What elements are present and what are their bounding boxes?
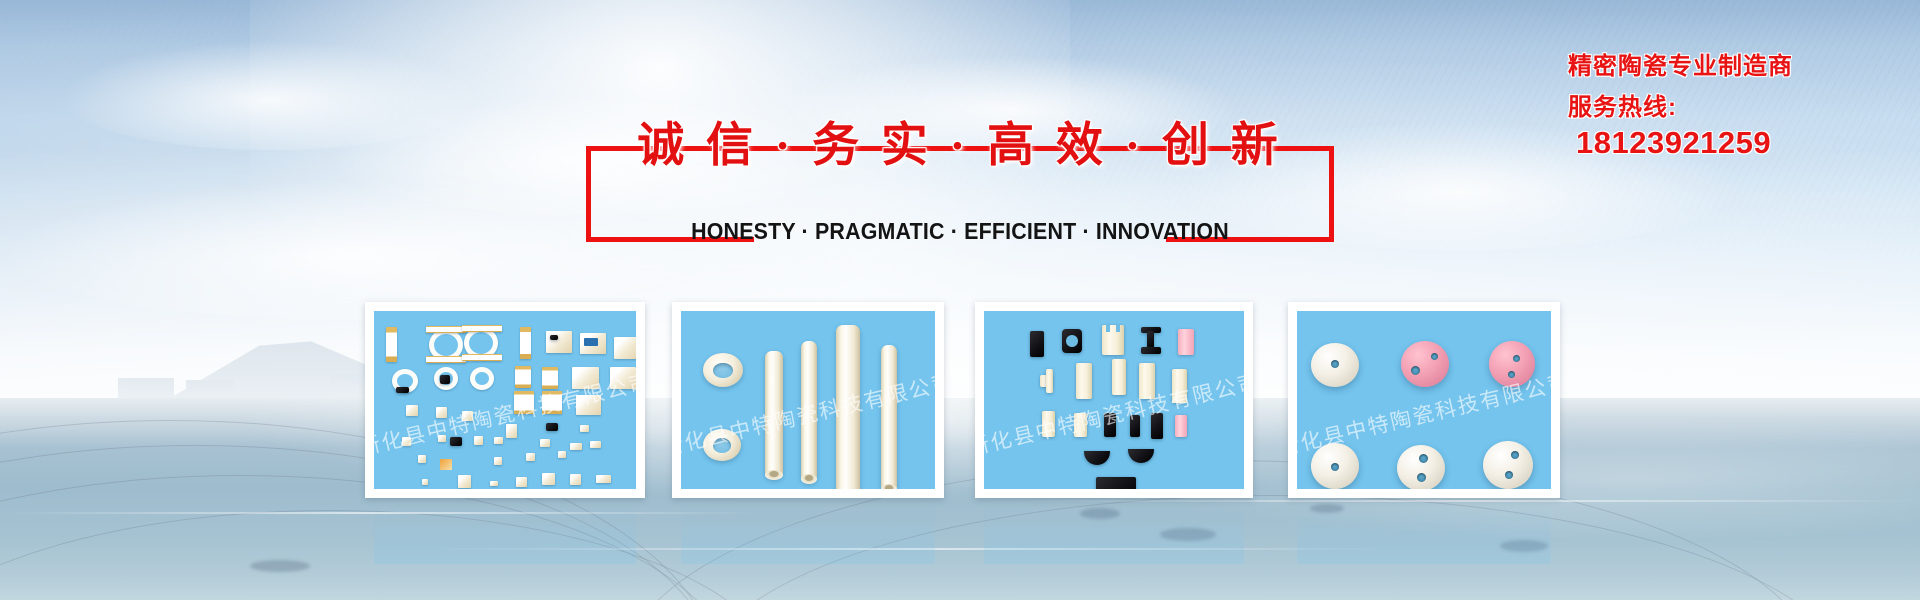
ceramic-part xyxy=(1030,331,1044,357)
disc-hole xyxy=(1331,463,1339,471)
ceramic-part xyxy=(1139,363,1155,399)
ceramic-tube xyxy=(765,351,783,479)
ceramic-part xyxy=(1106,325,1110,332)
ceramic-part xyxy=(580,425,589,432)
ceramic-part xyxy=(422,479,428,485)
ceramic-part xyxy=(1141,347,1161,354)
disc-hole xyxy=(1411,366,1420,375)
ceramic-part xyxy=(386,327,397,362)
ceramic-part xyxy=(490,481,498,486)
product-panel-ceramic-discs-nozzles[interactable]: 新化县中特陶瓷科技有限公司 xyxy=(1288,302,1560,498)
panel-image: 新化县中特陶瓷科技有限公司 xyxy=(984,311,1244,489)
ceramic-disc xyxy=(1483,441,1533,489)
hotline-number[interactable]: 18123921259 xyxy=(1568,125,1908,161)
ceramic-part xyxy=(514,391,534,414)
ceramic-part xyxy=(494,437,503,444)
ceramic-part xyxy=(458,475,471,488)
disc-hole xyxy=(1431,353,1438,360)
ceramic-part xyxy=(576,395,601,415)
ceramic-part xyxy=(526,453,535,461)
hero-banner: 诚 信 · 务 实 · 高 效 · 创 新 HONESTY · PRAGMATI… xyxy=(0,0,1920,600)
company-tagline: 精密陶瓷专业制造商 xyxy=(1568,52,1908,82)
ceramic-part xyxy=(1074,413,1087,437)
ceramic-part xyxy=(396,387,409,393)
ceramic-part xyxy=(542,367,558,389)
ceramic-part xyxy=(462,411,473,421)
ceramic-part xyxy=(402,437,411,446)
ceramic-part xyxy=(558,451,566,458)
ceramic-disc xyxy=(1397,445,1445,489)
ceramic-part xyxy=(406,405,418,416)
panel-image: 新化县中特陶瓷科技有限公司 xyxy=(374,311,636,489)
ceramic-part xyxy=(1151,413,1163,439)
ceramic-part xyxy=(450,437,462,446)
ceramic-part xyxy=(596,475,611,483)
panel-reflection xyxy=(681,498,935,564)
ceramic-part xyxy=(516,477,527,487)
ceramic-part xyxy=(426,326,466,333)
ceramic-part xyxy=(470,367,494,390)
ceramic-tube xyxy=(801,341,817,483)
ceramic-ring xyxy=(703,429,741,461)
ceramic-part xyxy=(520,327,531,359)
ceramic-part xyxy=(550,335,558,340)
product-panel-ceramic-blocks-profiles[interactable]: 新化县中特陶瓷科技有限公司 xyxy=(975,302,1253,498)
hotline-label: 服务热线: xyxy=(1568,92,1908,124)
panel-reflection xyxy=(1297,498,1551,564)
disc-hole xyxy=(1331,360,1339,368)
ceramic-part xyxy=(542,473,555,485)
ceramic-part xyxy=(462,354,502,361)
disc-hole xyxy=(1508,371,1515,378)
ceramic-disc xyxy=(1311,443,1359,489)
ceramic-part xyxy=(1116,325,1120,332)
ceramic-part xyxy=(584,338,598,346)
ceramic-part xyxy=(614,337,636,359)
ceramic-part xyxy=(570,474,581,485)
ceramic-part xyxy=(1042,411,1055,437)
ceramic-ring xyxy=(703,353,743,387)
panel-reflection xyxy=(374,498,636,564)
disc-hole xyxy=(1505,471,1513,479)
disc-hole xyxy=(1513,355,1520,362)
ceramic-part xyxy=(1104,413,1116,437)
ceramic-part xyxy=(440,375,450,384)
ceramic-part xyxy=(1096,477,1136,489)
disc-hole xyxy=(1417,473,1426,482)
ceramic-part xyxy=(540,439,550,447)
ceramic-part xyxy=(474,436,483,445)
ceramic-disc xyxy=(1489,341,1535,387)
ceramic-part xyxy=(590,441,601,448)
ceramic-part xyxy=(546,331,572,353)
ceramic-part xyxy=(610,367,636,389)
ceramic-part xyxy=(418,455,426,463)
ceramic-disc xyxy=(1311,343,1359,387)
ceramic-disc xyxy=(1401,341,1449,387)
product-panel-ceramic-tubes-rods[interactable]: 新化县中特陶瓷科技有限公司 xyxy=(672,302,944,498)
ceramic-arc xyxy=(1128,449,1154,463)
ceramic-part xyxy=(436,407,447,418)
ceramic-part xyxy=(1066,335,1078,347)
contact-block: 精密陶瓷专业制造商 服务热线: 18123921259 xyxy=(1568,52,1908,161)
tube-end xyxy=(801,474,817,484)
ceramic-arc xyxy=(1084,451,1110,465)
slogan-english: HONESTY · PRAGMATIC · EFFICIENT · INNOVA… xyxy=(612,218,1308,245)
ceramic-part xyxy=(494,457,502,465)
ceramic-part xyxy=(426,356,466,363)
ceramic-part xyxy=(462,325,502,332)
ceramic-part xyxy=(1175,415,1187,437)
ceramic-part xyxy=(1046,369,1053,393)
ceramic-part xyxy=(1076,363,1092,399)
disc-hole xyxy=(1511,451,1519,459)
ceramic-part xyxy=(1178,329,1194,355)
ceramic-tube xyxy=(836,325,860,489)
product-panel-smd-chip-components[interactable]: 新化县中特陶瓷科技有限公司 xyxy=(365,302,645,498)
ceramic-part xyxy=(515,366,531,388)
ceramic-part xyxy=(542,391,562,414)
ceramic-part xyxy=(546,423,558,431)
ceramic-tube xyxy=(881,345,897,489)
ceramic-part xyxy=(570,443,582,450)
ceramic-part xyxy=(1172,369,1187,403)
ceramic-part xyxy=(440,459,452,470)
tube-end xyxy=(765,470,783,480)
ceramic-part xyxy=(572,367,599,389)
panel-reflection xyxy=(984,498,1244,564)
tube-end xyxy=(881,484,897,489)
panel-image: 新化县中特陶瓷科技有限公司 xyxy=(1297,311,1551,489)
slogan-block: 诚 信 · 务 实 · 高 效 · 创 新 HONESTY · PRAGMATI… xyxy=(586,146,1334,242)
disc-hole xyxy=(1419,454,1428,463)
ceramic-part xyxy=(506,424,517,438)
ceramic-part xyxy=(1112,359,1126,395)
ground-spot xyxy=(250,560,310,572)
ceramic-part xyxy=(438,435,446,442)
panel-image: 新化县中特陶瓷科技有限公司 xyxy=(681,311,935,489)
ceramic-part xyxy=(1130,415,1140,437)
slogan-chinese: 诚 信 · 务 实 · 高 效 · 创 新 xyxy=(586,106,1334,175)
